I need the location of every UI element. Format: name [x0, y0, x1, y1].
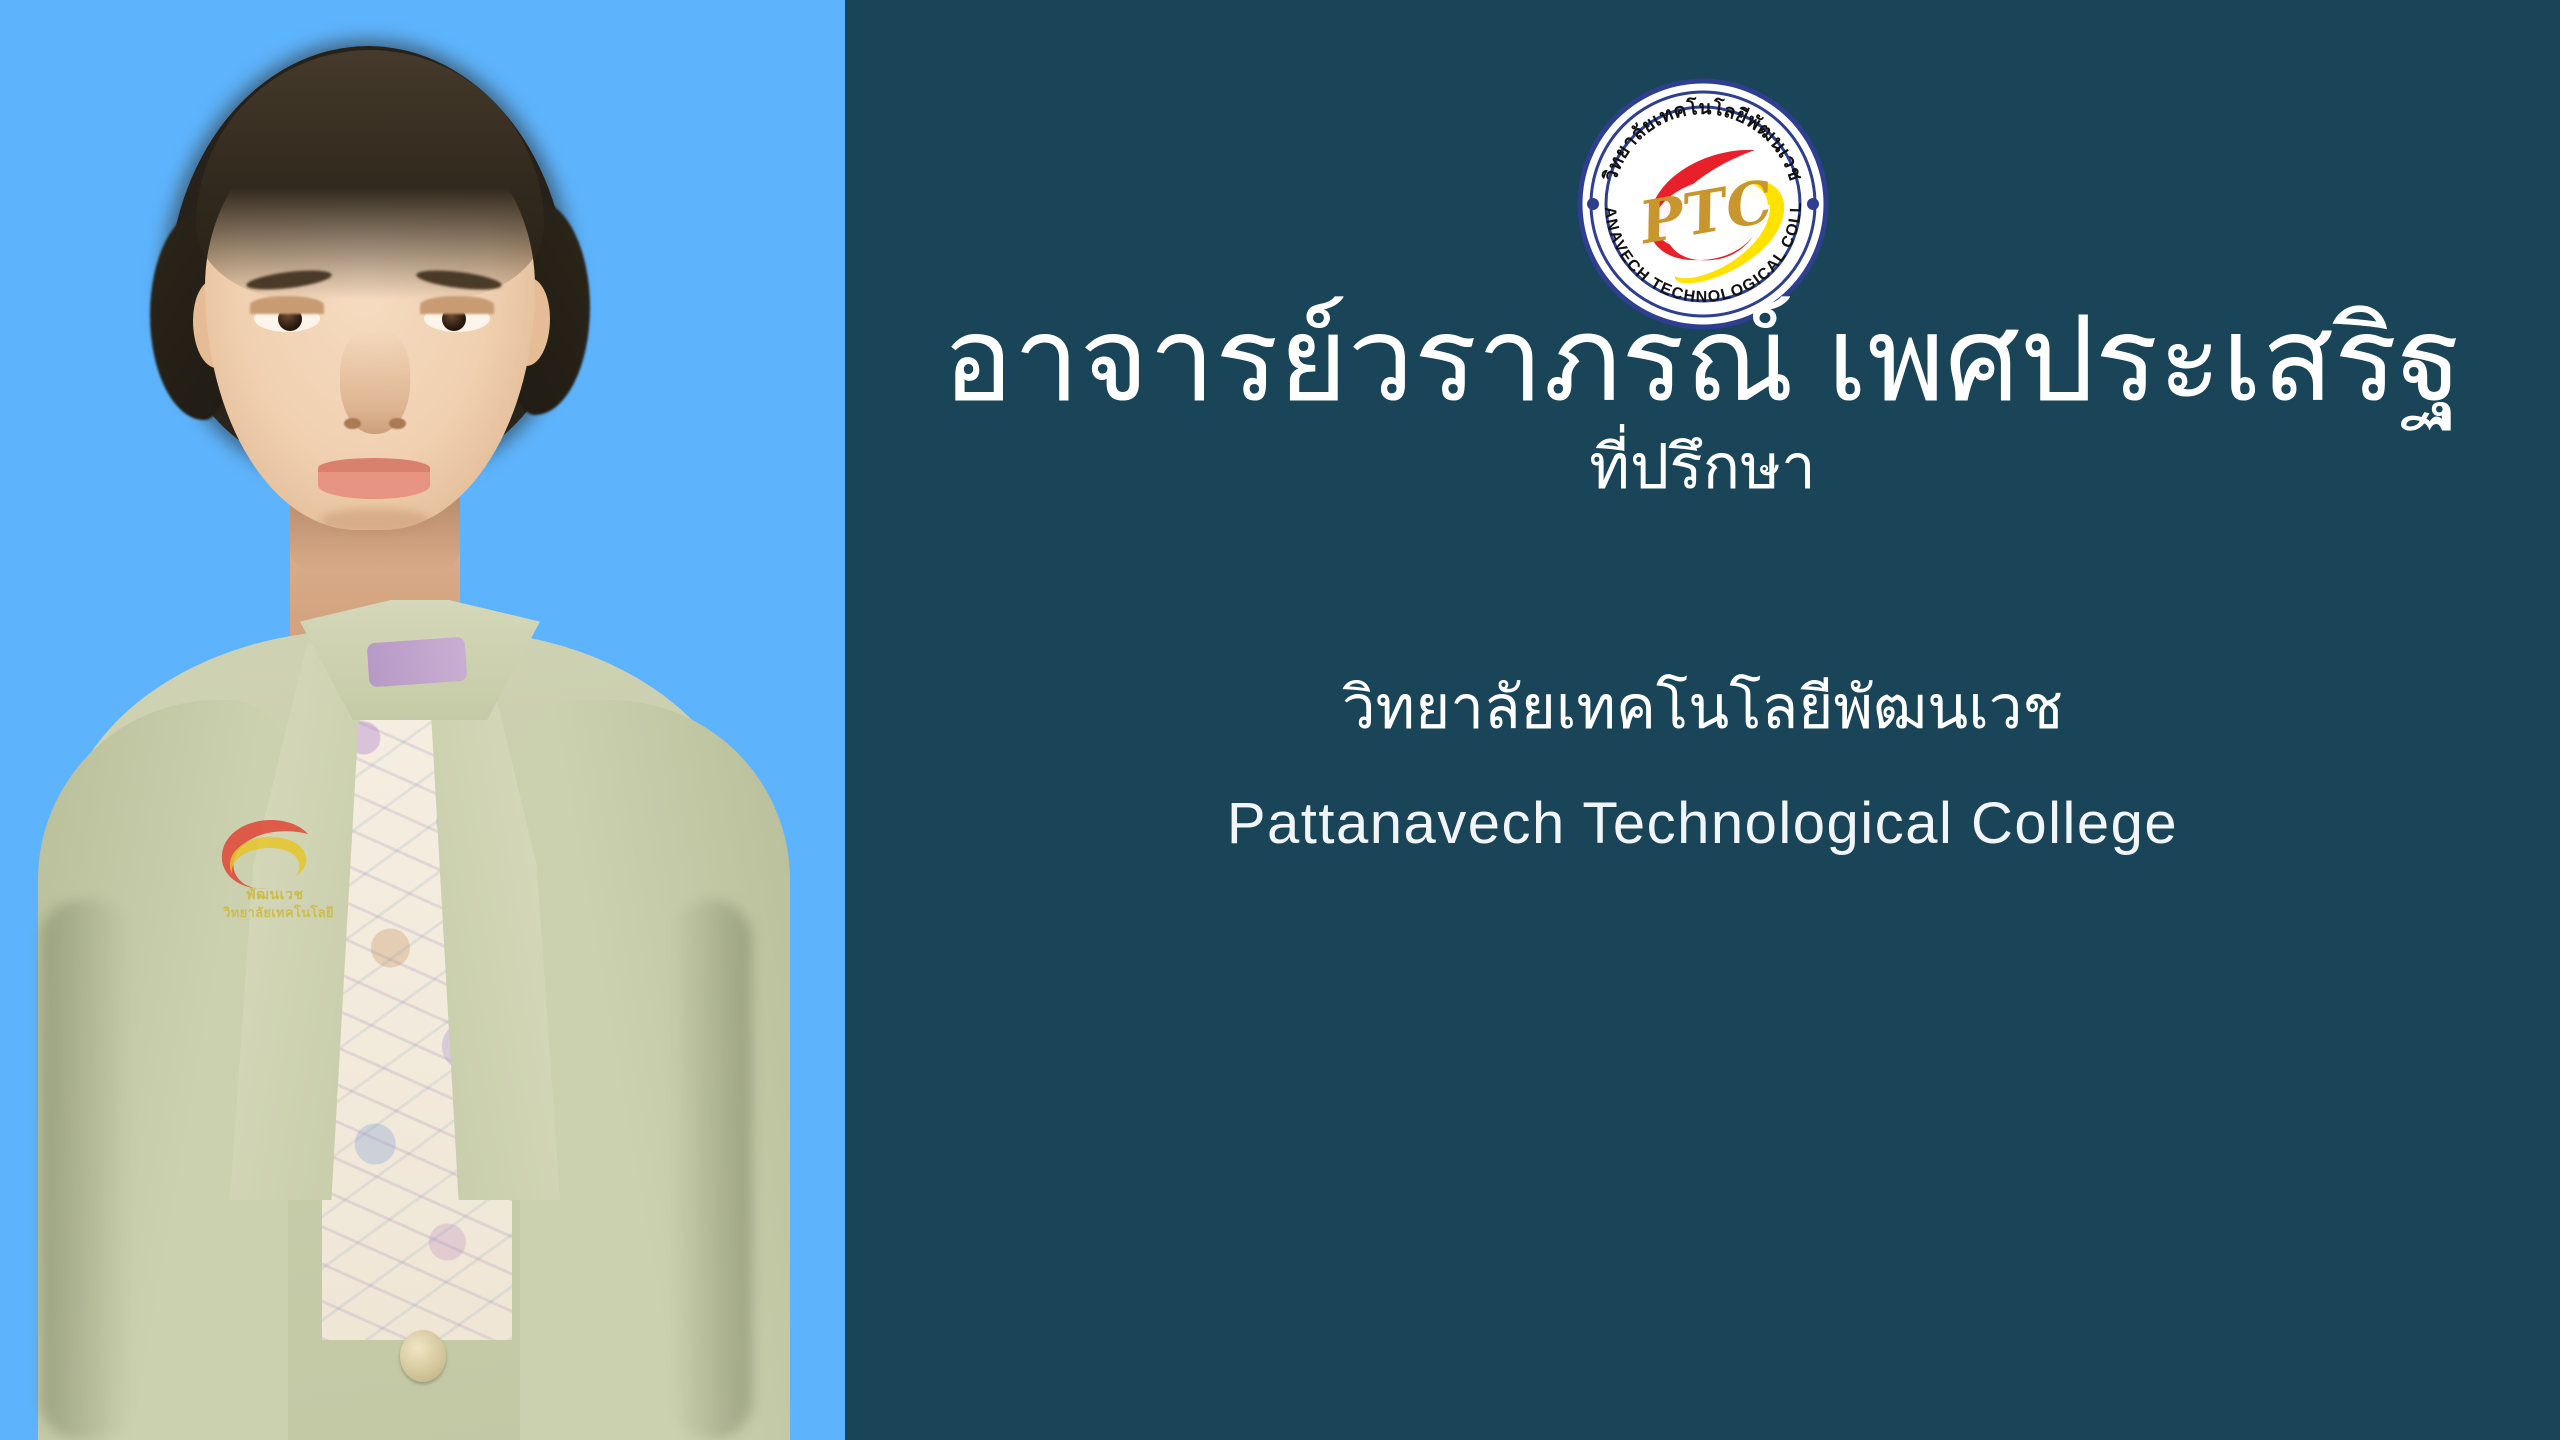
- lower-lip: [318, 472, 430, 499]
- arm-shadow-left: [40, 900, 130, 1440]
- eyelid-right: [420, 296, 494, 314]
- person-role: ที่ปรึกษา: [845, 434, 2560, 502]
- hair-fringe: [196, 50, 544, 300]
- nostril-right: [389, 418, 406, 429]
- ptc-college-seal-icon: วิทยาลัยเทคโนโลยีพัฒนเวช PATTANAVECH TEC…: [1577, 78, 1829, 330]
- blouse-purple-trim: [367, 637, 468, 688]
- photo-panel: พัฒนเวช วิทยาลัยเทคโนโลยี: [0, 0, 845, 1440]
- portrait-photo: พัฒนเวช วิทยาลัยเทคโนโลยี: [0, 0, 845, 1440]
- page-title: อาจารย์วราภรณ์ เพศประเสริฐ: [845, 300, 2560, 420]
- organization-english: Pattanavech Technological College: [845, 790, 2560, 857]
- arm-shadow-right: [672, 900, 752, 1440]
- chin-shadow: [320, 508, 430, 534]
- title-block: อาจารย์วราภรณ์ เพศประเสริฐ ที่ปรึกษา: [845, 300, 2560, 503]
- content-panel: วิทยาลัยเทคโนโลยีพัฒนเวช PATTANAVECH TEC…: [845, 0, 2560, 1440]
- nostril-left: [344, 418, 361, 429]
- slide-root: พัฒนเวช วิทยาลัยเทคโนโลยี: [0, 0, 2560, 1440]
- eyelid-left: [250, 296, 324, 314]
- organization-thai: วิทยาลัยเทคโนโลยีพัฒนเวช: [845, 660, 2560, 755]
- jacket-badge-line2: วิทยาลัยเทคโนโลยี: [196, 902, 361, 923]
- jacket-button: [400, 1330, 446, 1382]
